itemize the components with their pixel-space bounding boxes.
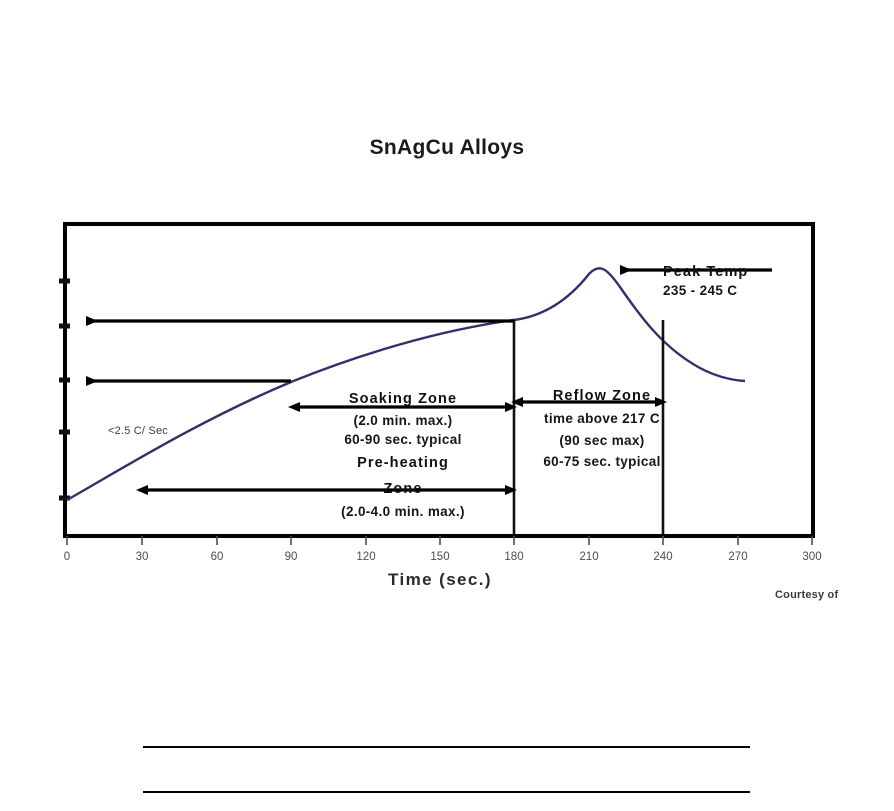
soaking-zone-title: Soaking Zone [349,391,457,407]
x-tick-label: 150 [430,551,449,563]
x-tick-label: 240 [653,551,672,563]
x-tick-label: 300 [802,551,821,563]
x-tick-label: 90 [285,551,298,563]
soaking-zone-max: (2.0 min. max.) [353,413,452,428]
x-tick-label: 210 [579,551,598,563]
x-axis-label: Time (sec.) [388,570,492,589]
peak-temp-label: Peak Temp [663,264,748,280]
x-tick-label: 30 [136,551,149,563]
reflow-zone-above-label: time above 217 C [544,411,660,426]
reflow-profile-chart: 0 30 60 90 120 150 180 210 240 270 300 T… [0,0,894,620]
reflow-zone-typical: 60-75 sec. typical [543,454,660,469]
x-tick-label: 0 [64,551,70,563]
x-tick-label: 270 [728,551,747,563]
page-canvas: SnAgCu Alloys [0,0,894,811]
x-axis-tick-labels: 0 30 60 90 120 150 180 210 240 270 300 [64,551,822,563]
x-tick-label: 180 [504,551,523,563]
peak-temp-value: 235 - 245 C [663,283,737,298]
preheating-zone-max: (2.0-4.0 min. max.) [341,504,465,519]
reflow-zone-title: Reflow Zone [553,388,651,404]
footer-divider-bottom [143,791,750,793]
preheating-zone-title-line1: Pre-heating [357,455,449,471]
x-tick-label: 120 [356,551,375,563]
preheating-zone-title-line2: Zone [383,481,422,497]
ramp-rate-label: <2.5 C/ Sec [108,425,168,437]
footer-divider-top [143,746,750,748]
reflow-zone-max: (90 sec max) [559,433,644,448]
courtesy-credit: Courtesy of [775,589,838,601]
soaking-zone-typical: 60-90 sec. typical [344,432,461,447]
x-tick-label: 60 [211,551,224,563]
